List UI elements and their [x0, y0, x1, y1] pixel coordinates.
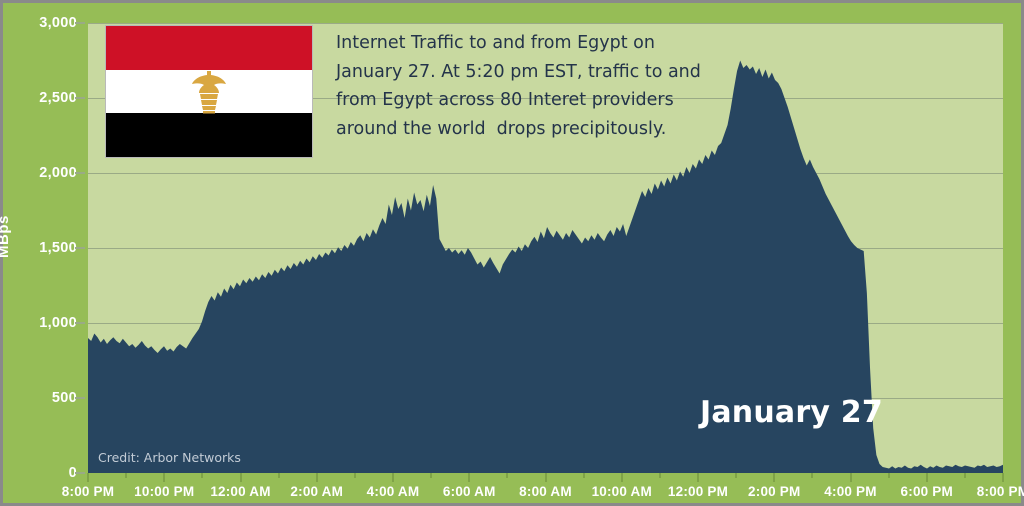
y-tick-mark: [75, 97, 85, 99]
x-tick-label: 4:00 AM: [367, 484, 420, 499]
x-tick-label: 8:00 AM: [519, 484, 572, 499]
flag-band-red: [106, 26, 312, 70]
x-tick-label: 6:00 PM: [901, 484, 953, 499]
x-tick-label: 8:00 PM: [62, 484, 114, 499]
annotation-text: Internet Traffic to and from Egypt on Ja…: [336, 29, 736, 143]
x-tick-minor: [811, 473, 813, 478]
x-tick-minor: [888, 473, 890, 478]
x-tick-minor: [201, 473, 203, 478]
x-tick-minor: [506, 473, 508, 478]
y-tick-label: 3,000: [39, 15, 77, 31]
y-axis-title: MBps: [0, 215, 12, 258]
x-tick-label: 4:00 PM: [824, 484, 876, 499]
x-tick-label: 6:00 AM: [443, 484, 496, 499]
y-tick-mark: [75, 22, 85, 24]
x-tick-minor: [354, 473, 356, 478]
chart-figure: MBps Internet Traffic to and from Egypt …: [0, 0, 1024, 506]
flag-band-black: [106, 113, 312, 157]
x-tick-mark: [316, 473, 318, 482]
x-tick-mark: [1002, 473, 1004, 482]
x-tick-minor: [659, 473, 661, 478]
x-tick-mark: [926, 473, 928, 482]
y-tick-label: 1,000: [39, 315, 77, 331]
eagle-of-saladin-icon: [191, 70, 227, 114]
y-tick-label: 500: [52, 390, 77, 406]
y-tick-mark: [75, 397, 85, 399]
x-tick-label: 2:00 AM: [290, 484, 343, 499]
x-tick-minor: [125, 473, 127, 478]
x-tick-label: 10:00 AM: [592, 484, 652, 499]
egypt-flag-icon: [105, 25, 313, 158]
annotation-line-4: around the world drops precipitously.: [336, 115, 736, 144]
x-tick-label: 12:00 PM: [668, 484, 728, 499]
x-tick-mark: [621, 473, 623, 482]
y-tick-mark: [75, 247, 85, 249]
y-tick-mark: [75, 472, 85, 474]
x-tick-mark: [87, 473, 89, 482]
y-tick-label: 1,500: [39, 240, 77, 256]
x-tick-minor: [583, 473, 585, 478]
annotation-line-3: from Egypt across 80 Interet providers: [336, 86, 736, 115]
y-tick-mark: [75, 322, 85, 324]
x-tick-label: 2:00 PM: [748, 484, 800, 499]
y-tick-mark: [75, 172, 85, 174]
x-tick-minor: [278, 473, 280, 478]
x-tick-label: 12:00 AM: [210, 484, 270, 499]
y-tick-label: 2,500: [39, 90, 77, 106]
x-tick-minor: [430, 473, 432, 478]
x-tick-mark: [773, 473, 775, 482]
date-label: January 27: [700, 395, 883, 430]
x-tick-minor: [964, 473, 966, 478]
x-tick-mark: [545, 473, 547, 482]
x-tick-mark: [697, 473, 699, 482]
credit-label: Credit: Arbor Networks: [98, 450, 241, 465]
annotation-line-1: Internet Traffic to and from Egypt on: [336, 29, 736, 58]
x-tick-mark: [392, 473, 394, 482]
x-tick-minor: [735, 473, 737, 478]
x-tick-mark: [468, 473, 470, 482]
annotation-line-2: January 27. At 5:20 pm EST, traffic to a…: [336, 58, 736, 87]
x-tick-mark: [240, 473, 242, 482]
x-tick-label: 8:00 PM: [977, 484, 1024, 499]
x-tick-mark: [163, 473, 165, 482]
y-tick-label: 2,000: [39, 165, 77, 181]
x-tick-label: 10:00 PM: [134, 484, 194, 499]
x-tick-mark: [850, 473, 852, 482]
